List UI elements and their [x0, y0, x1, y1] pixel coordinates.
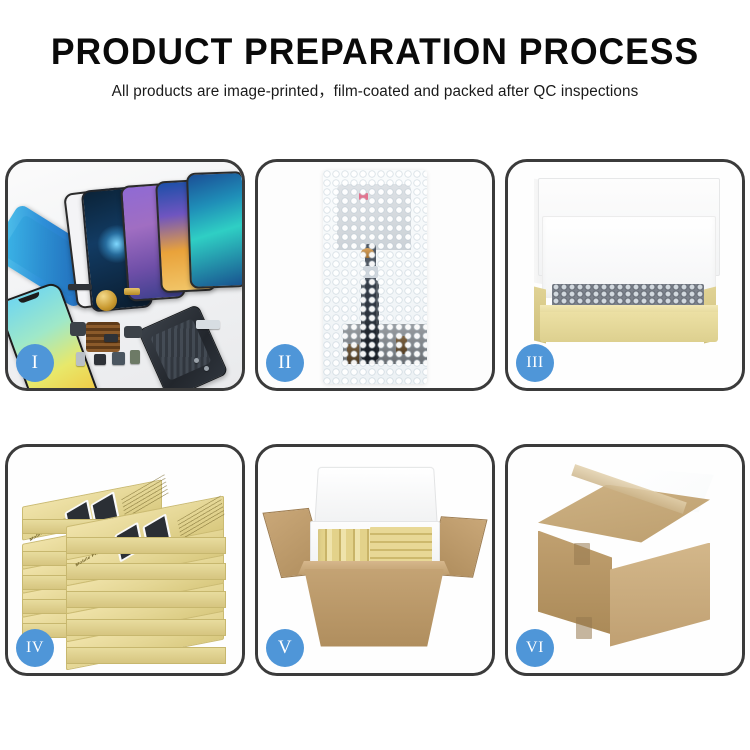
page-subtitle: All products are image-printed，film-coat… — [6, 81, 745, 103]
box-stack: Mobile Phone Spare Parts — [22, 475, 234, 659]
bubble-texture — [323, 170, 427, 384]
step-badge-3: III — [516, 344, 554, 382]
speaker-coil-part — [96, 290, 117, 311]
step-panel-1[interactable]: I — [5, 159, 245, 391]
step-cell-1: I — [0, 132, 250, 417]
carton-hand-hole-bottom — [576, 617, 592, 639]
stacked-box-front-1: Mobile Phone Spare Parts — [66, 511, 224, 545]
box-front-face — [66, 537, 226, 554]
step-panel-2[interactable]: II — [255, 159, 495, 391]
phone-notch — [18, 291, 40, 303]
step-cell-2: II — [250, 132, 500, 417]
screw-part-2 — [204, 366, 209, 371]
screw-part-1 — [194, 358, 199, 363]
part-strip-1 — [68, 284, 92, 290]
step-cell-6: VI — [500, 417, 750, 702]
flex-cable-part-2 — [124, 326, 142, 338]
step-panel-5[interactable]: V — [255, 444, 495, 676]
carton-right-face — [610, 543, 710, 647]
step-badge-5: V — [266, 629, 304, 667]
box-front-face — [66, 647, 226, 664]
box-front-face — [66, 563, 226, 580]
step-panel-3[interactable]: III — [505, 159, 745, 391]
battery-part — [130, 350, 140, 364]
bubble-wrap-bag — [323, 170, 427, 384]
flex-cable-part-1 — [70, 322, 86, 336]
box-spec-lines — [177, 495, 224, 540]
box-front-face — [66, 619, 226, 636]
sim-tray-part — [76, 352, 85, 366]
box-front-face — [66, 591, 226, 608]
phone-internals — [137, 303, 228, 387]
step-cell-5: V — [250, 417, 500, 702]
step-badge-2: II — [266, 344, 304, 382]
phone-screen-teal — [186, 171, 242, 289]
vibrator-part — [112, 352, 125, 365]
step-badge-1: I — [16, 344, 54, 382]
gold-connector-part — [124, 288, 140, 295]
step-badge-4: IV — [16, 629, 54, 667]
step-badge-6: VI — [516, 629, 554, 667]
page-header: PRODUCT PREPARATION PROCESS All products… — [0, 0, 750, 103]
carton-hand-hole-top — [574, 543, 590, 565]
camera-module-part — [94, 354, 106, 365]
carton-body — [304, 569, 444, 647]
step-cell-4: Mobile Phone Spare Parts — [0, 417, 250, 702]
tool-part — [196, 320, 220, 329]
step-panel-4[interactable]: Mobile Phone Spare Parts — [5, 444, 245, 676]
step-panel-6[interactable]: VI — [505, 444, 745, 676]
foam-lid — [314, 466, 438, 528]
speaker-part — [104, 334, 118, 342]
page-title: PRODUCT PREPARATION PROCESS — [15, 30, 735, 74]
box-front-panel — [540, 312, 718, 342]
process-steps-grid: I — [0, 132, 750, 702]
step-cell-3: III — [500, 132, 750, 417]
